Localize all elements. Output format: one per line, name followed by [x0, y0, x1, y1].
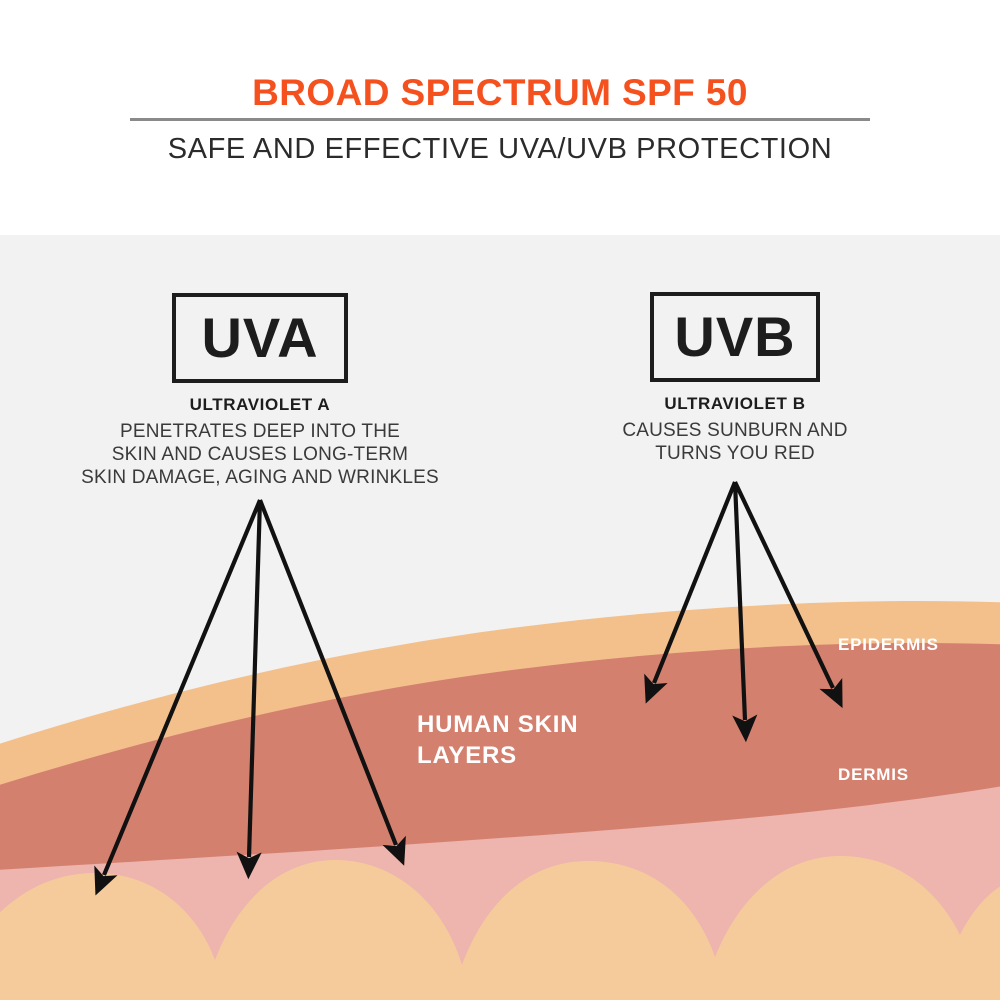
- uvb-ray-left: [654, 482, 735, 683]
- uvb-description-line-2: TURNS YOU RED: [575, 442, 895, 465]
- epidermis-label: EPIDERMIS: [838, 635, 939, 655]
- uvb-badge-label: UVB: [674, 309, 795, 365]
- uvb-heading: ULTRAVIOLET B: [575, 394, 895, 414]
- uva-heading: ULTRAVIOLET A: [60, 395, 460, 415]
- uva-description-line-1: PENETRATES DEEP INTO THE: [60, 420, 460, 443]
- uva-info-block: UVA ULTRAVIOLET A PENETRATES DEEP INTO T…: [60, 293, 460, 490]
- title-divider: [130, 118, 870, 121]
- infographic-page: BROAD SPECTRUM SPF 50 SAFE AND EFFECTIVE…: [0, 0, 1000, 1000]
- uvb-info-block: UVB ULTRAVIOLET B CAUSES SUNBURN AND TUR…: [575, 292, 895, 465]
- uva-ray-center: [249, 500, 260, 857]
- uva-description-line-2: SKIN AND CAUSES LONG-TERM: [60, 443, 460, 466]
- header: BROAD SPECTRUM SPF 50 SAFE AND EFFECTIVE…: [0, 0, 1000, 235]
- page-subtitle: SAFE AND EFFECTIVE UVA/UVB PROTECTION: [0, 133, 1000, 166]
- skin-diagram-panel: UVA ULTRAVIOLET A PENETRATES DEEP INTO T…: [0, 235, 1000, 1000]
- human-skin-layers-line-2: LAYERS: [417, 741, 578, 772]
- uva-description-line-3: SKIN DAMAGE, AGING AND WRINKLES: [60, 466, 460, 489]
- human-skin-layers-line-1: HUMAN SKIN: [417, 710, 578, 741]
- uva-badge-label: UVA: [201, 310, 318, 366]
- uva-badge-box: UVA: [172, 293, 348, 383]
- uvb-ray-right: [735, 482, 833, 688]
- uva-ray-right: [260, 500, 396, 845]
- uva-ray-left: [104, 500, 260, 875]
- uvb-badge-box: UVB: [650, 292, 820, 382]
- page-title: BROAD SPECTRUM SPF 50: [0, 72, 1000, 114]
- uvb-description-line-1: CAUSES SUNBURN AND: [575, 419, 895, 442]
- human-skin-layers-label: HUMAN SKIN LAYERS: [417, 710, 578, 771]
- uvb-ray-center: [735, 482, 745, 720]
- uva-description: PENETRATES DEEP INTO THE SKIN AND CAUSES…: [60, 420, 460, 490]
- uvb-description: CAUSES SUNBURN AND TURNS YOU RED: [575, 419, 895, 465]
- dermis-label: DERMIS: [838, 765, 909, 785]
